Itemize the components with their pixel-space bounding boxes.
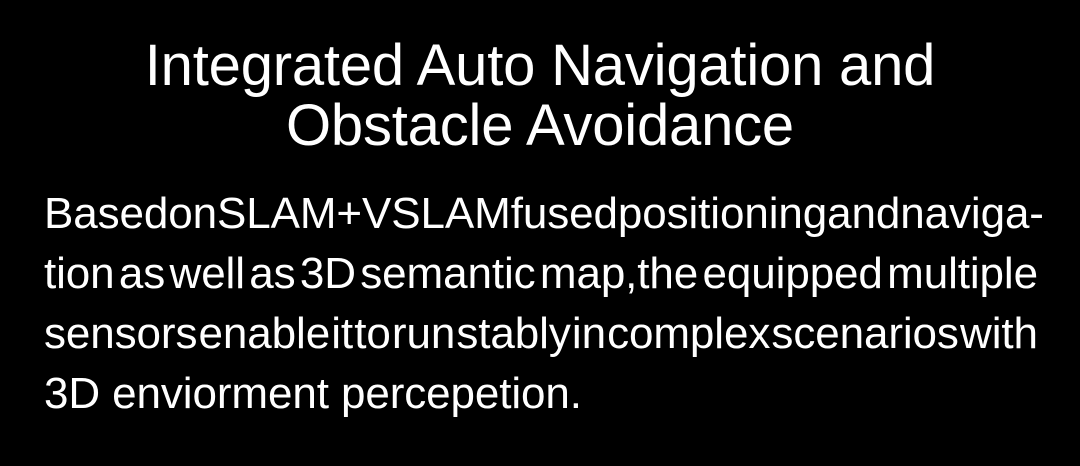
body-word: fused xyxy=(511,184,618,244)
body-word: with xyxy=(960,304,1038,364)
body-line-2: tion as well as 3D semantic map,the equi… xyxy=(44,244,1038,304)
body-paragraph: Based on SLAM+VSLAM fused positioning an… xyxy=(44,184,1038,424)
body-word: multiple xyxy=(887,244,1038,304)
body-word: it xyxy=(331,304,353,364)
body-word: sensors xyxy=(44,304,197,364)
body-word: semantic xyxy=(360,244,535,304)
body-word: equipped xyxy=(703,244,883,304)
title-line-2: Obstacle Avoidance xyxy=(0,96,1080,156)
body-word: as xyxy=(119,244,165,304)
body-word: 3D xyxy=(300,244,356,304)
slide-root: Integrated Auto Navigation and Obstacle … xyxy=(0,0,1080,466)
body-word: enable xyxy=(199,304,331,364)
body-word: run xyxy=(392,304,455,364)
body-word: stably xyxy=(456,304,570,364)
page-title: Integrated Auto Navigation and Obstacle … xyxy=(0,36,1080,156)
body-word: map,the xyxy=(540,244,698,304)
body-word: to xyxy=(354,304,391,364)
body-word: in xyxy=(572,304,606,364)
body-word: SLAM+VSLAM xyxy=(217,184,511,244)
body-word: Based xyxy=(44,184,168,244)
body-word: complex xyxy=(607,304,770,364)
body-word: and xyxy=(827,184,900,244)
body-word: on xyxy=(168,184,217,244)
body-word: tion xyxy=(44,244,115,304)
body-word: as xyxy=(249,244,295,304)
body-word: scenarios xyxy=(771,304,958,364)
body-line-4: 3D enviorment percepetion. xyxy=(44,364,1038,424)
body-word: well xyxy=(170,244,245,304)
title-line-1: Integrated Auto Navigation and xyxy=(0,36,1080,96)
body-word: naviga- xyxy=(900,184,1044,244)
body-line-1: Based on SLAM+VSLAM fused positioning an… xyxy=(44,184,1038,244)
body-line-3: sensors enable it to run stably in compl… xyxy=(44,304,1038,364)
body-word: positioning xyxy=(618,184,827,244)
